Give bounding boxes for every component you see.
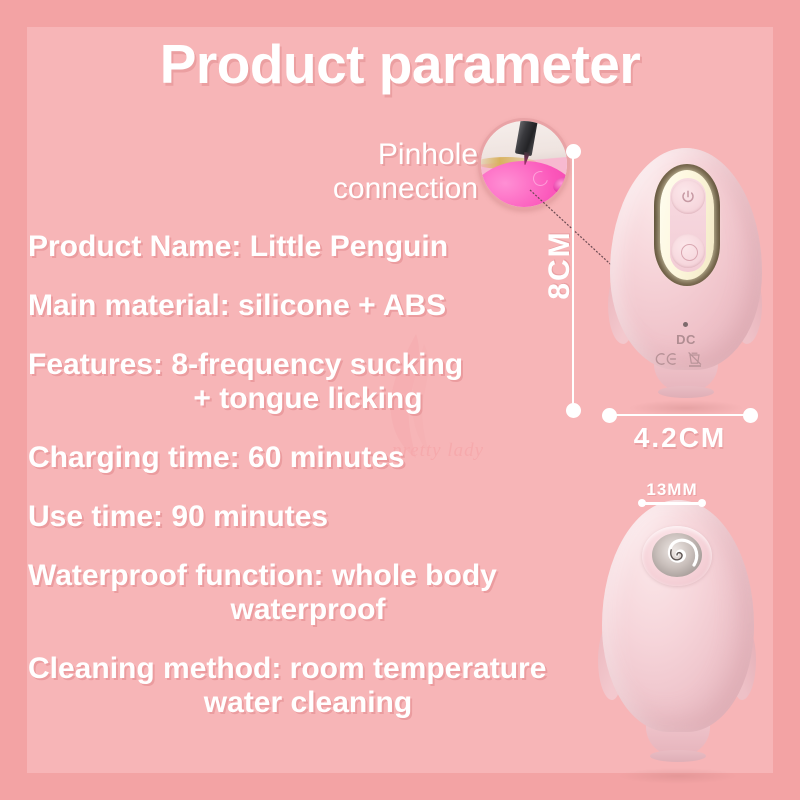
product-image-back-view [588, 500, 768, 790]
pinhole-label-line1: Pinhole [228, 138, 478, 172]
spec-text: Charging time: 60 minutes [28, 441, 405, 474]
certification-marks [648, 350, 724, 368]
spec-text: Product Name: Little Penguin [28, 230, 448, 263]
width-dimension-line [610, 414, 750, 416]
suction-dimension-dot-left [638, 499, 646, 507]
page-title: Product parameter [0, 32, 800, 96]
magnifier-circle [478, 118, 570, 210]
product-image-front-view: DC [600, 148, 770, 423]
suction-dimension-dot-right [698, 499, 706, 507]
spec-item-charging-time: Charging time: 60 minutes [28, 443, 588, 473]
suction-dimension-label: 13MM [622, 480, 722, 500]
dc-port-label: DC [648, 332, 724, 347]
width-dimension-dot-right [743, 408, 758, 423]
height-dimension-label: 8CM [543, 210, 577, 320]
height-dimension-dot-top [566, 144, 581, 159]
spec-text: Use time: 90 minutes [28, 500, 328, 533]
product-back-shadow [618, 768, 738, 784]
power-icon [680, 189, 696, 205]
suction-dimension-line [642, 502, 702, 505]
spec-item-waterproof: Waterproof function: whole body waterpro… [28, 561, 588, 625]
width-dimension-label: 4.2CM [595, 422, 765, 454]
spec-text-continuation: + tongue licking [28, 384, 588, 414]
height-dimension-dot-bottom [566, 403, 581, 418]
spec-text: Waterproof function: whole body [28, 559, 497, 592]
spiral-suction-icon [652, 533, 702, 577]
spec-item-product-name: Product Name: Little Penguin [28, 232, 588, 262]
spec-text: Features: 8-frequency sucking [28, 348, 463, 381]
pinhole-label-line2: connection [228, 172, 478, 206]
spec-text-continuation: water cleaning [28, 688, 588, 718]
dc-charging-port [683, 322, 688, 327]
spec-text: Main material: silicone + ABS [28, 289, 446, 322]
spec-item-main-material: Main material: silicone + ABS [28, 291, 588, 321]
circle-icon [681, 244, 698, 261]
width-dimension-dot-left [602, 408, 617, 423]
product-parameter-infographic: pretty lady Product parameter Pinhole co… [0, 0, 800, 800]
spec-text: Cleaning method: room temperature [28, 652, 546, 685]
spec-item-cleaning-method: Cleaning method: room temperature water … [28, 654, 588, 718]
pinhole-connection-label: Pinhole connection [228, 138, 478, 205]
spec-item-use-time: Use time: 90 minutes [28, 502, 588, 532]
product-front-base [658, 386, 714, 398]
spec-item-features: Features: 8-frequency sucking + tongue l… [28, 350, 588, 414]
spec-list: Product Name: Little Penguin Main materi… [28, 232, 588, 747]
spec-text-continuation: waterproof [28, 595, 588, 625]
product-back-base [650, 750, 706, 762]
